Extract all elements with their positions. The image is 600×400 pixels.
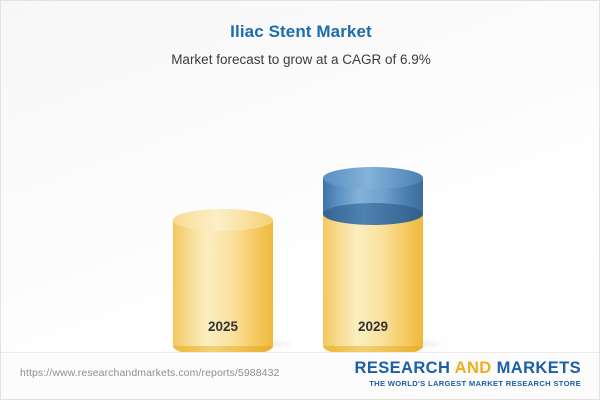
bar-group-2025: USD 1.09 Billion — [173, 39, 273, 346]
chart-plot-area: USD 1.09 Billion USD 1.43 Billion 2025 — [1, 1, 600, 346]
chart-footer: https://www.researchandmarkets.com/repor… — [1, 352, 599, 399]
cylinder-bottom-cap — [323, 203, 423, 225]
chart-card: Iliac Stent Market Market forecast to gr… — [0, 0, 600, 400]
logo-tagline: THE WORLD'S LARGEST MARKET RESEARCH STOR… — [355, 379, 582, 388]
bar-2029-growth-segment[interactable] — [323, 167, 423, 225]
research-and-markets-logo[interactable]: RESEARCH AND MARKETS THE WORLD'S LARGEST… — [355, 359, 582, 388]
cylinder-top-cap — [323, 167, 423, 189]
logo-word-and: AND — [455, 359, 492, 377]
logo-word-research: RESEARCH — [355, 359, 451, 377]
category-label-2029: 2029 — [323, 319, 423, 334]
category-label-2025: 2025 — [173, 319, 273, 334]
report-url[interactable]: https://www.researchandmarkets.com/repor… — [20, 367, 279, 379]
cylinder-top-cap — [173, 209, 273, 231]
bar-group-2029: USD 1.43 Billion — [323, 39, 423, 346]
logo-wordmark: RESEARCH AND MARKETS — [355, 359, 582, 378]
logo-word-markets: MARKETS — [497, 359, 581, 377]
